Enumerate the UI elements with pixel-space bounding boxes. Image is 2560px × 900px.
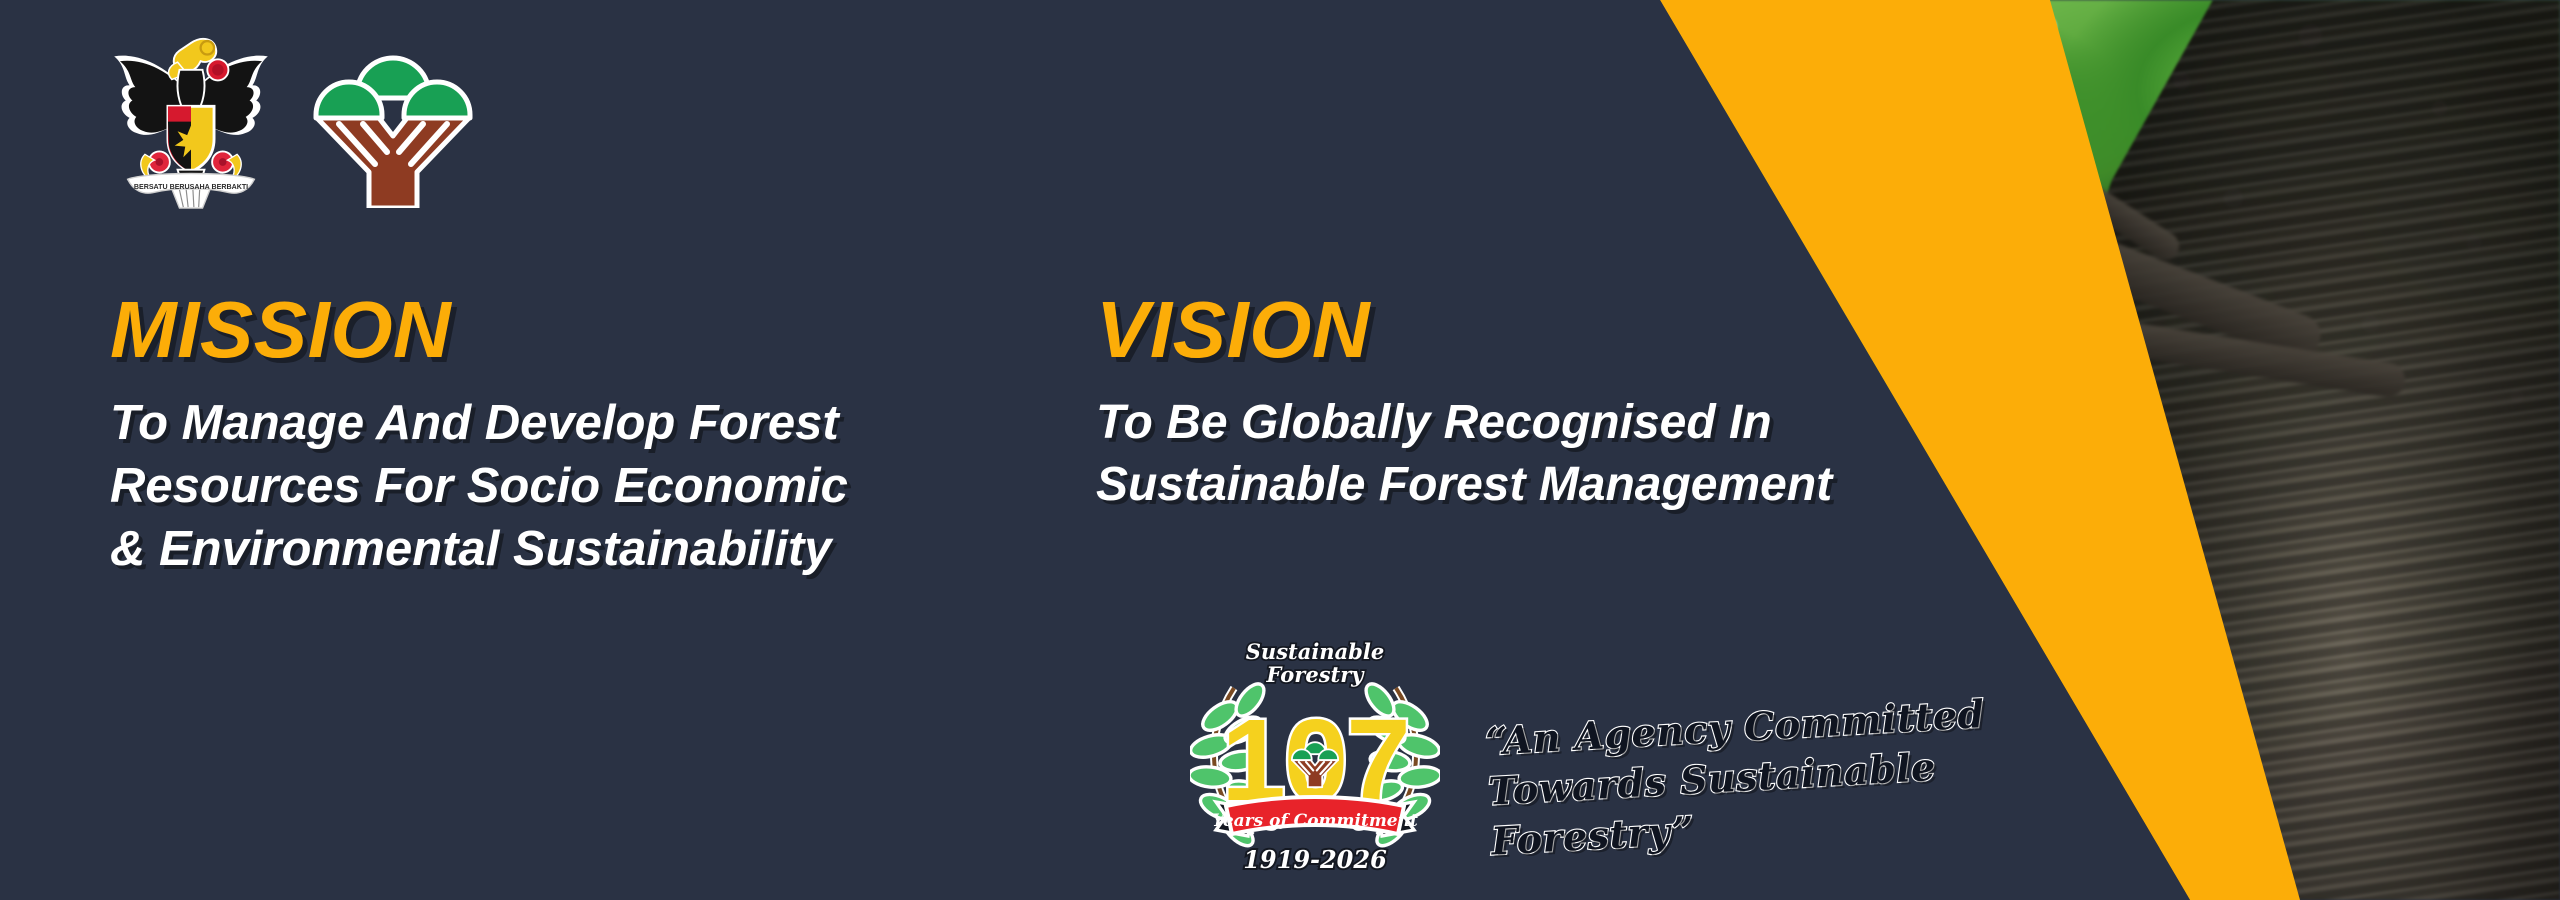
vision-block: VISION To Be Globally Recognised In Sust…: [1096, 290, 1832, 516]
emblem-top-line-2: Forestry: [1266, 662, 1366, 687]
tagline: “An Agency Committed Towards Sustainable…: [1484, 683, 2091, 867]
mission-heading: MISSION: [110, 290, 848, 370]
vision-heading: VISION: [1096, 290, 1832, 370]
mission-block: MISSION To Manage And Develop Forest Res…: [110, 290, 848, 582]
mission-text: To Manage And Develop Forest Resources F…: [110, 392, 848, 582]
emblem-ribbon-text: Years of Commitment: [1212, 811, 1418, 831]
sarawak-coat-of-arms-icon: BERSATU BERUSAHA BERBAKTI: [95, 18, 287, 210]
vision-text: To Be Globally Recognised In Sustainable…: [1096, 392, 1832, 516]
svg-text:BERSATU BERUSAHA BERBAKTI: BERSATU BERUSAHA BERBAKTI: [134, 183, 248, 191]
mission-vision-banner: BERSATU BERUSAHA BERBAKTI: [0, 0, 2560, 900]
anniversary-107-emblem: Sustainable Forestry 107: [1190, 630, 1440, 885]
emblem-top-line-1: Sustainable: [1246, 639, 1384, 664]
emblem-years: 1919-2026: [1243, 845, 1387, 874]
forest-department-tree-logo-icon: [313, 40, 473, 208]
logo-row: BERSATU BERUSAHA BERBAKTI: [95, 18, 473, 210]
